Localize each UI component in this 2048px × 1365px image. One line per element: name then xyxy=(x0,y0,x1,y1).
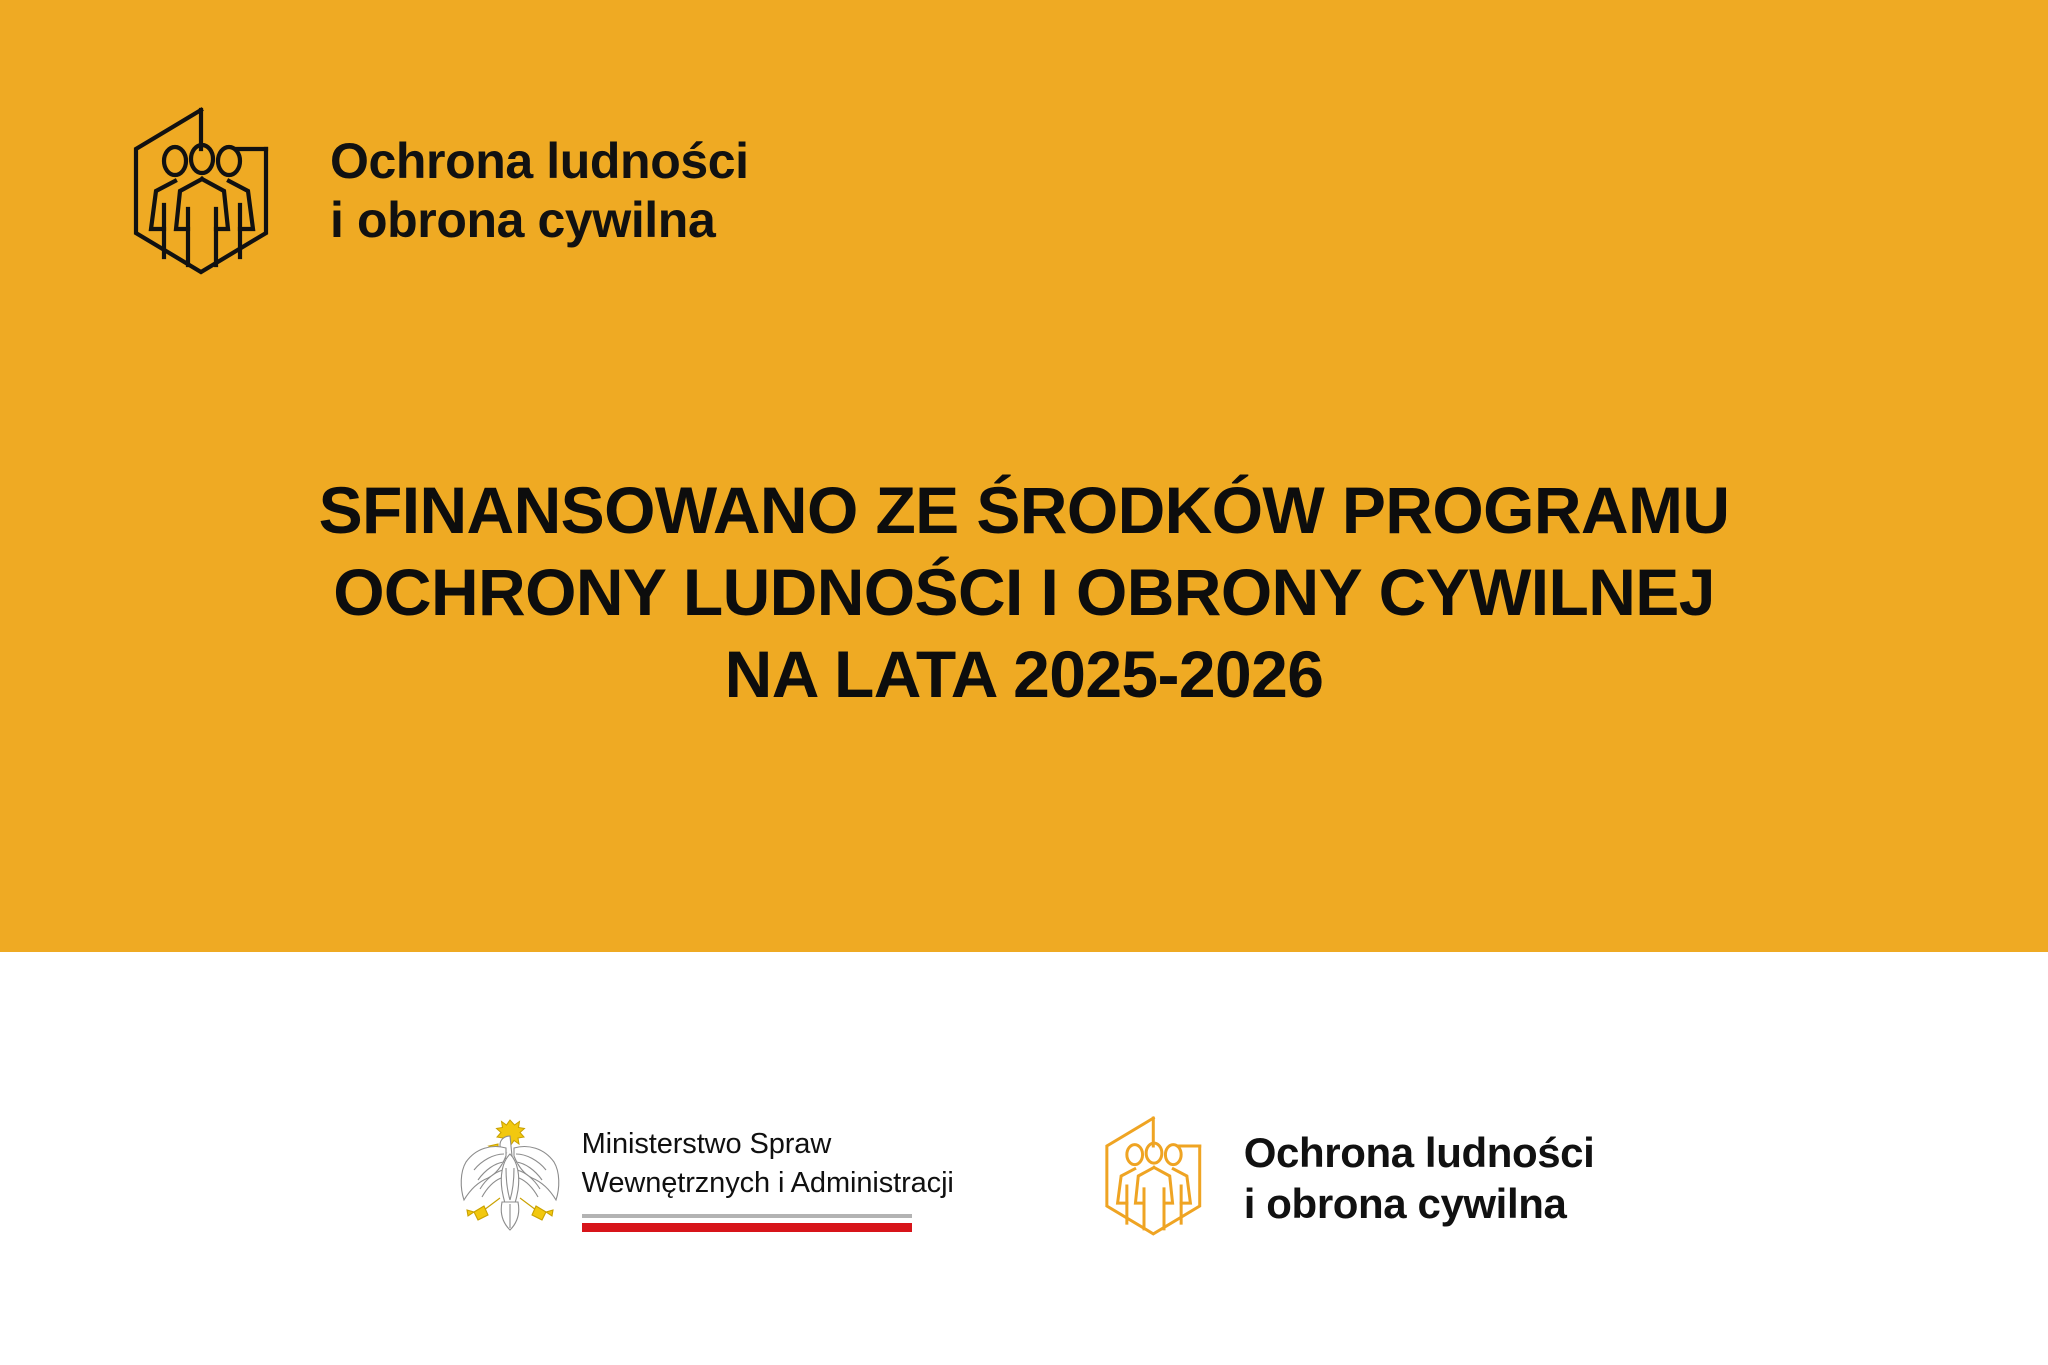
poster-canvas: Ochrona ludności i obrona cywilna SFINAN… xyxy=(0,0,2048,1365)
polish-eagle-emblem-icon xyxy=(454,1110,566,1247)
footer-logo-row: Ministerstwo Spraw Wewnętrznych i Admini… xyxy=(0,952,2048,1365)
ministry-text-column: Ministerstwo Spraw Wewnętrznych i Admini… xyxy=(582,1125,954,1232)
ochrona-ludnosci-hex-icon xyxy=(118,105,286,277)
programme-lockup: Ochrona ludności i obrona cywilna xyxy=(1094,1113,1595,1244)
ochrona-ludnosci-hex-icon xyxy=(1094,1113,1214,1244)
ministry-name: Ministerstwo Spraw Wewnętrznych i Admini… xyxy=(582,1125,954,1203)
page-title: SFINANSOWANO ZE ŚRODKÓW PROGRAMU OCHRONY… xyxy=(0,470,2048,715)
header-logo-lockup: Ochrona ludności i obrona cywilna xyxy=(118,105,749,277)
ministry-rule-grey xyxy=(582,1214,912,1218)
programme-wordmark: Ochrona ludności i obrona cywilna xyxy=(1244,1128,1595,1229)
ministry-rule-red xyxy=(582,1223,912,1232)
ministry-lockup: Ministerstwo Spraw Wewnętrznych i Admini… xyxy=(454,1110,954,1247)
header-wordmark: Ochrona ludności i obrona cywilna xyxy=(330,132,749,250)
